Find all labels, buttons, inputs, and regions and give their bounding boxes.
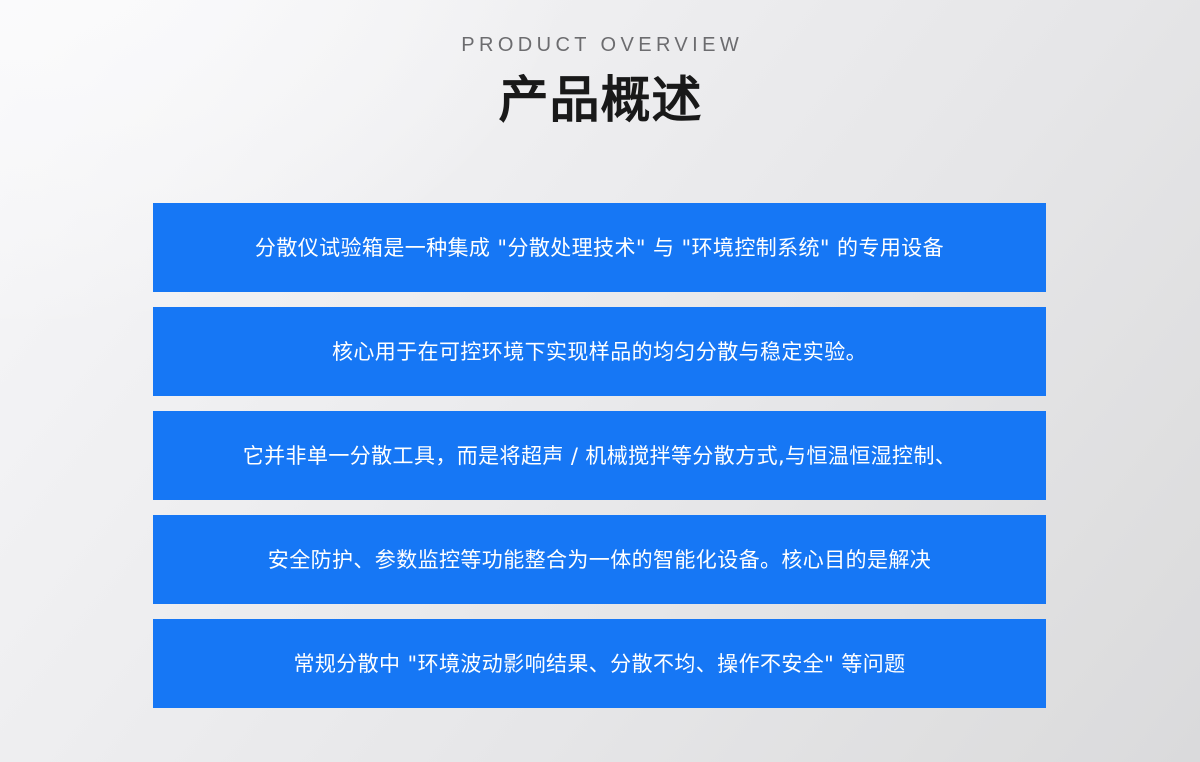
overview-bar-text: 安全防护、参数监控等功能整合为一体的智能化设备。核心目的是解决 <box>268 545 931 575</box>
overview-bar: 分散仪试验箱是一种集成 "分散处理技术" 与 "环境控制系统" 的专用设备 <box>153 203 1046 292</box>
overview-bar-text: 常规分散中 "环境波动影响结果、分散不均、操作不安全" 等问题 <box>293 649 905 679</box>
page-header: PRODUCT OVERVIEW 产品概述 <box>0 0 1200 129</box>
product-overview-page: PRODUCT OVERVIEW 产品概述 分散仪试验箱是一种集成 "分散处理技… <box>0 0 1200 762</box>
overview-bar: 它并非单一分散工具，而是将超声 / 机械搅拌等分散方式,与恒温恒湿控制、 <box>153 411 1046 500</box>
overview-bar-text: 它并非单一分散工具，而是将超声 / 机械搅拌等分散方式,与恒温恒湿控制、 <box>243 441 957 471</box>
overview-bar-text: 分散仪试验箱是一种集成 "分散处理技术" 与 "环境控制系统" 的专用设备 <box>255 233 944 263</box>
overview-bar-text: 核心用于在可控环境下实现样品的均匀分散与稳定实验。 <box>332 337 867 367</box>
overview-bar: 常规分散中 "环境波动影响结果、分散不均、操作不安全" 等问题 <box>153 619 1046 708</box>
overview-bar-list: 分散仪试验箱是一种集成 "分散处理技术" 与 "环境控制系统" 的专用设备 核心… <box>153 203 1046 708</box>
overview-bar: 核心用于在可控环境下实现样品的均匀分散与稳定实验。 <box>153 307 1046 396</box>
eyebrow-label: PRODUCT OVERVIEW <box>0 33 1200 58</box>
page-title: 产品概述 <box>0 71 1200 129</box>
overview-bar: 安全防护、参数监控等功能整合为一体的智能化设备。核心目的是解决 <box>153 515 1046 604</box>
